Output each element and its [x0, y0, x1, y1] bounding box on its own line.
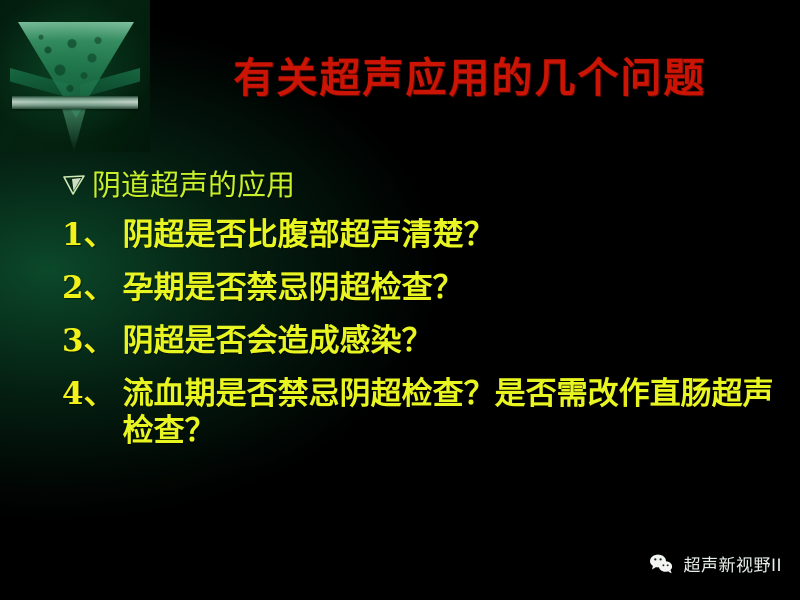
numbered-list-item-label: 流血期是否禁忌阴超检查？是否需改作直肠超声检查？	[115, 376, 782, 452]
slide-title: 有关超声应用的几个问题	[160, 44, 780, 104]
inverted-pyramid-logo-icon	[18, 22, 134, 118]
slide-body: 阴道超声的应用 1、 阴超是否比腹部超声清楚？ 2、 孕期是否禁忌阴超检查？ 3…	[62, 168, 782, 451]
pyramid-tip-icon	[62, 108, 86, 152]
pyramid-texture-icon	[26, 26, 126, 106]
pyramid-wing-right-icon	[80, 68, 140, 98]
numbered-list-item: 1、 阴超是否比腹部超声清楚？	[62, 217, 782, 255]
numbered-list-item-number: 2、	[62, 270, 115, 308]
numbered-list-item-number: 1、	[62, 217, 115, 255]
numbered-list-item-number: 3、	[62, 323, 115, 361]
footer-watermark-label: 超声新视野II	[683, 551, 782, 576]
numbered-list-item-label: 阴超是否比腹部超声清楚？	[115, 217, 782, 255]
wechat-icon	[649, 553, 675, 575]
numbered-list-item: 2、 孕期是否禁忌阴超检查？	[62, 270, 782, 308]
numbered-list-item: 3、 阴超是否会造成感染？	[62, 323, 782, 361]
bullet-list-item: 阴道超声的应用	[62, 168, 782, 202]
numbered-list-item: 4、 流血期是否禁忌阴超检查？是否需改作直肠超声检查？	[62, 376, 782, 452]
chevron-check-icon	[62, 168, 92, 200]
logo-panel	[0, 0, 150, 152]
footer-watermark: 超声新视野II	[649, 551, 782, 576]
pyramid-wing-left-icon	[10, 68, 70, 98]
numbered-list-item-number: 4、	[62, 376, 115, 414]
numbered-list-item-label: 孕期是否禁忌阴超检查？	[115, 270, 782, 308]
metal-bar-icon	[12, 96, 138, 109]
presentation-slide: 有关超声应用的几个问题 阴道超声的应用 1、 阴超是否比腹部超声清楚？ 2、 孕…	[0, 0, 800, 600]
bullet-list-item-label: 阴道超声的应用	[92, 168, 295, 202]
numbered-list-item-label: 阴超是否会造成感染？	[115, 323, 782, 361]
